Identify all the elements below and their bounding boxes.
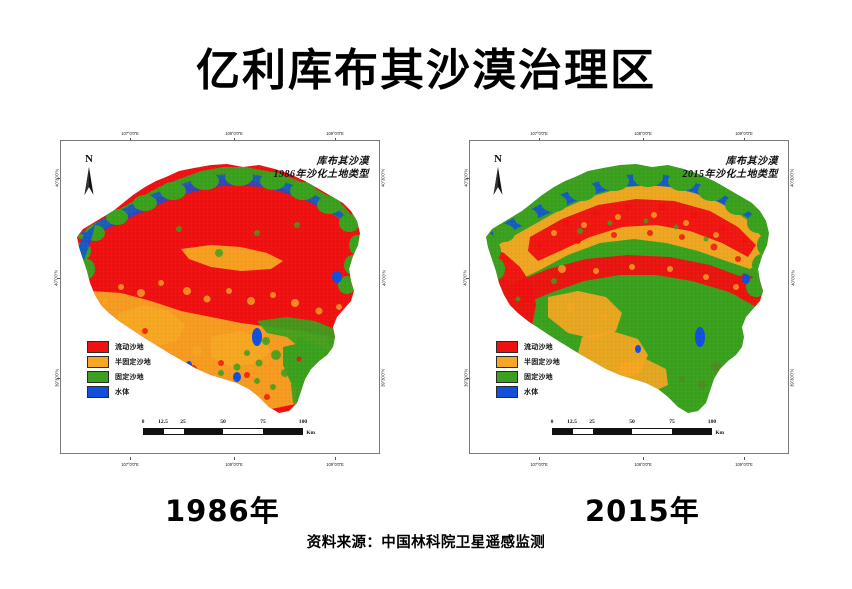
map-panel-1986: 107°0'0"E 108°0'0"E 109°0'0"E 107°0'0"E … bbox=[38, 126, 398, 471]
scalebar-unit-2015: Km bbox=[715, 430, 724, 436]
year-caption-1986: 1986年 bbox=[165, 488, 280, 530]
lat-tick-right-1-2015: 40°0'0"N bbox=[791, 270, 796, 286]
legend-swatch-fixed-sand-2015 bbox=[496, 371, 518, 383]
slide-root: 亿利库布其沙漠治理区 107°0'0"E 108°0'0"E 109°0'0"E… bbox=[0, 0, 852, 589]
scalebar-segment-2-2015 bbox=[593, 429, 633, 434]
legend-label-water: 水体 bbox=[115, 387, 129, 397]
legend-label-shifting-sand-2015: 流动沙地 bbox=[524, 342, 553, 352]
lon-tick-top-1: 108°0'0"E bbox=[225, 131, 243, 136]
legend-label-fixed-sand-2015: 固定沙地 bbox=[524, 372, 553, 382]
scalebar-tick-0-2015: 0 bbox=[551, 419, 554, 425]
scalebar-labels-1986: 0 12.5 25 50 75 100 bbox=[143, 419, 303, 428]
lon-tickmark-bot-1 bbox=[234, 457, 235, 460]
legend-item-shifting-sand: 流动沙地 bbox=[87, 341, 151, 353]
scalebar-segment-3 bbox=[223, 429, 263, 434]
north-arrow-2015: N bbox=[486, 153, 510, 199]
map-frame-2015: N 库布其沙漠 2015年沙化土地类型 流动沙地 半固定沙地 bbox=[469, 140, 789, 454]
map-title-line2: 1986年沙化土地类型 bbox=[274, 168, 370, 181]
legend-item-semi-fixed-sand-2015: 半固定沙地 bbox=[496, 356, 560, 368]
lat-tick-right-0: 40°30'0"N bbox=[381, 169, 386, 187]
lon-tick-bot-2-2015: 109°0'0"E bbox=[735, 462, 753, 467]
scalebar-2015: 0 12.5 25 50 75 100 Km bbox=[552, 419, 712, 435]
scalebar-tick-1-2015: 12.5 bbox=[567, 419, 577, 425]
legend-item-water-2015: 水体 bbox=[496, 386, 560, 398]
page-title: 亿利库布其沙漠治理区 bbox=[0, 34, 852, 98]
scalebar-unit: Km bbox=[306, 430, 315, 436]
scalebar-tick-5-2015: 100 bbox=[708, 419, 716, 425]
lon-tickmark-bot-0-2015 bbox=[539, 457, 540, 460]
scalebar-tick-4: 75 bbox=[260, 419, 266, 425]
scalebar-tick-2: 25 bbox=[180, 419, 186, 425]
lon-tick-top-0-2015: 107°0'0"E bbox=[530, 131, 548, 136]
map-raster-1986 bbox=[61, 141, 379, 453]
legend-label-semi-fixed-sand: 半固定沙地 bbox=[115, 357, 151, 367]
lon-tick-bot-0-2015: 107°0'0"E bbox=[530, 462, 548, 467]
scalebar-segment-4 bbox=[263, 429, 303, 434]
legend-swatch-semi-fixed-sand bbox=[87, 356, 109, 368]
north-arrow-icon-2015 bbox=[486, 165, 510, 197]
lon-tick-top-1-2015: 108°0'0"E bbox=[634, 131, 652, 136]
lon-tickmark-bot-1-2015 bbox=[643, 457, 644, 460]
legend-label-semi-fixed-sand-2015: 半固定沙地 bbox=[524, 357, 560, 367]
scalebar-segment-1 bbox=[164, 429, 184, 434]
scalebar-segment-1-2015 bbox=[573, 429, 593, 434]
scalebar-tick-3: 50 bbox=[220, 419, 226, 425]
scalebar-bar-1986: Km bbox=[143, 428, 303, 435]
legend-item-semi-fixed-sand: 半固定沙地 bbox=[87, 356, 151, 368]
scalebar-segment-3-2015 bbox=[632, 429, 672, 434]
legend-item-water: 水体 bbox=[87, 386, 151, 398]
map-title-line1: 库布其沙漠 bbox=[274, 155, 370, 168]
map-title-line1-2015: 库布其沙漠 bbox=[683, 155, 779, 168]
lat-tick-right-2-2015: 39°30'0"N bbox=[790, 369, 795, 387]
scalebar-segment-0 bbox=[144, 429, 164, 434]
legend-2015: 流动沙地 半固定沙地 固定沙地 水体 bbox=[496, 341, 560, 401]
lon-tickmark-bot-0 bbox=[130, 457, 131, 460]
lon-tick-bot-2: 109°0'0"E bbox=[326, 462, 344, 467]
legend-swatch-shifting-sand bbox=[87, 341, 109, 353]
north-arrow-label-2015: N bbox=[486, 153, 510, 165]
scalebar-labels-2015: 0 12.5 25 50 75 100 bbox=[552, 419, 712, 428]
legend-item-fixed-sand-2015: 固定沙地 bbox=[496, 371, 560, 383]
lon-tick-top-0: 107°0'0"E bbox=[121, 131, 139, 136]
scalebar-tick-1: 12.5 bbox=[158, 419, 168, 425]
legend-item-shifting-sand-2015: 流动沙地 bbox=[496, 341, 560, 353]
map-panel-2015: 107°0'0"E 108°0'0"E 109°0'0"E 107°0'0"E … bbox=[447, 126, 807, 471]
lon-tick-bot-1-2015: 108°0'0"E bbox=[634, 462, 652, 467]
map-body-2015 bbox=[470, 141, 788, 453]
source-note: 资料来源：中国林科院卫星遥感监测 bbox=[0, 531, 852, 552]
lon-tick-bot-0: 107°0'0"E bbox=[121, 462, 139, 467]
scalebar-segment-4-2015 bbox=[672, 429, 712, 434]
legend-swatch-water-2015 bbox=[496, 386, 518, 398]
legend-swatch-shifting-sand-2015 bbox=[496, 341, 518, 353]
lat-tick-right-2: 39°30'0"N bbox=[381, 369, 386, 387]
scalebar-1986: 0 12.5 25 50 75 100 Km bbox=[143, 419, 303, 435]
scalebar-segment-2 bbox=[184, 429, 224, 434]
map-frame-1986: N 库布其沙漠 1986年沙化土地类型 流动沙地 半固定沙地 bbox=[60, 140, 380, 454]
legend-swatch-water bbox=[87, 386, 109, 398]
lon-tickmark-bot-2 bbox=[335, 457, 336, 460]
map-inset-title-1986: 库布其沙漠 1986年沙化土地类型 bbox=[274, 155, 370, 181]
scalebar-tick-0: 0 bbox=[142, 419, 145, 425]
lon-tick-top-2-2015: 109°0'0"E bbox=[735, 131, 753, 136]
map-title-line2-2015: 2015年沙化土地类型 bbox=[683, 168, 779, 181]
map-inset-title-2015: 库布其沙漠 2015年沙化土地类型 bbox=[683, 155, 779, 181]
legend-1986: 流动沙地 半固定沙地 固定沙地 水体 bbox=[87, 341, 151, 401]
scalebar-tick-3-2015: 50 bbox=[629, 419, 635, 425]
north-arrow-1986: N bbox=[77, 153, 101, 199]
legend-label-shifting-sand: 流动沙地 bbox=[115, 342, 144, 352]
legend-label-fixed-sand: 固定沙地 bbox=[115, 372, 144, 382]
lat-tick-right-1: 40°0'0"N bbox=[382, 270, 387, 286]
legend-item-fixed-sand: 固定沙地 bbox=[87, 371, 151, 383]
scalebar-segment-0-2015 bbox=[553, 429, 573, 434]
scalebar-bar-2015: Km bbox=[552, 428, 712, 435]
lon-tick-bot-1: 108°0'0"E bbox=[225, 462, 243, 467]
scalebar-tick-5: 100 bbox=[299, 419, 307, 425]
lon-tick-top-2: 109°0'0"E bbox=[326, 131, 344, 136]
legend-swatch-semi-fixed-sand-2015 bbox=[496, 356, 518, 368]
year-caption-2015: 2015年 bbox=[585, 488, 700, 530]
north-arrow-label: N bbox=[77, 153, 101, 165]
lon-tickmark-bot-2-2015 bbox=[744, 457, 745, 460]
lat-tick-right-0-2015: 40°30'0"N bbox=[790, 169, 795, 187]
map-raster-2015 bbox=[470, 141, 788, 453]
scalebar-tick-2-2015: 25 bbox=[589, 419, 595, 425]
legend-swatch-fixed-sand bbox=[87, 371, 109, 383]
north-arrow-icon bbox=[77, 165, 101, 197]
map-body-1986 bbox=[61, 141, 379, 453]
scalebar-tick-4-2015: 75 bbox=[669, 419, 675, 425]
legend-label-water-2015: 水体 bbox=[524, 387, 538, 397]
